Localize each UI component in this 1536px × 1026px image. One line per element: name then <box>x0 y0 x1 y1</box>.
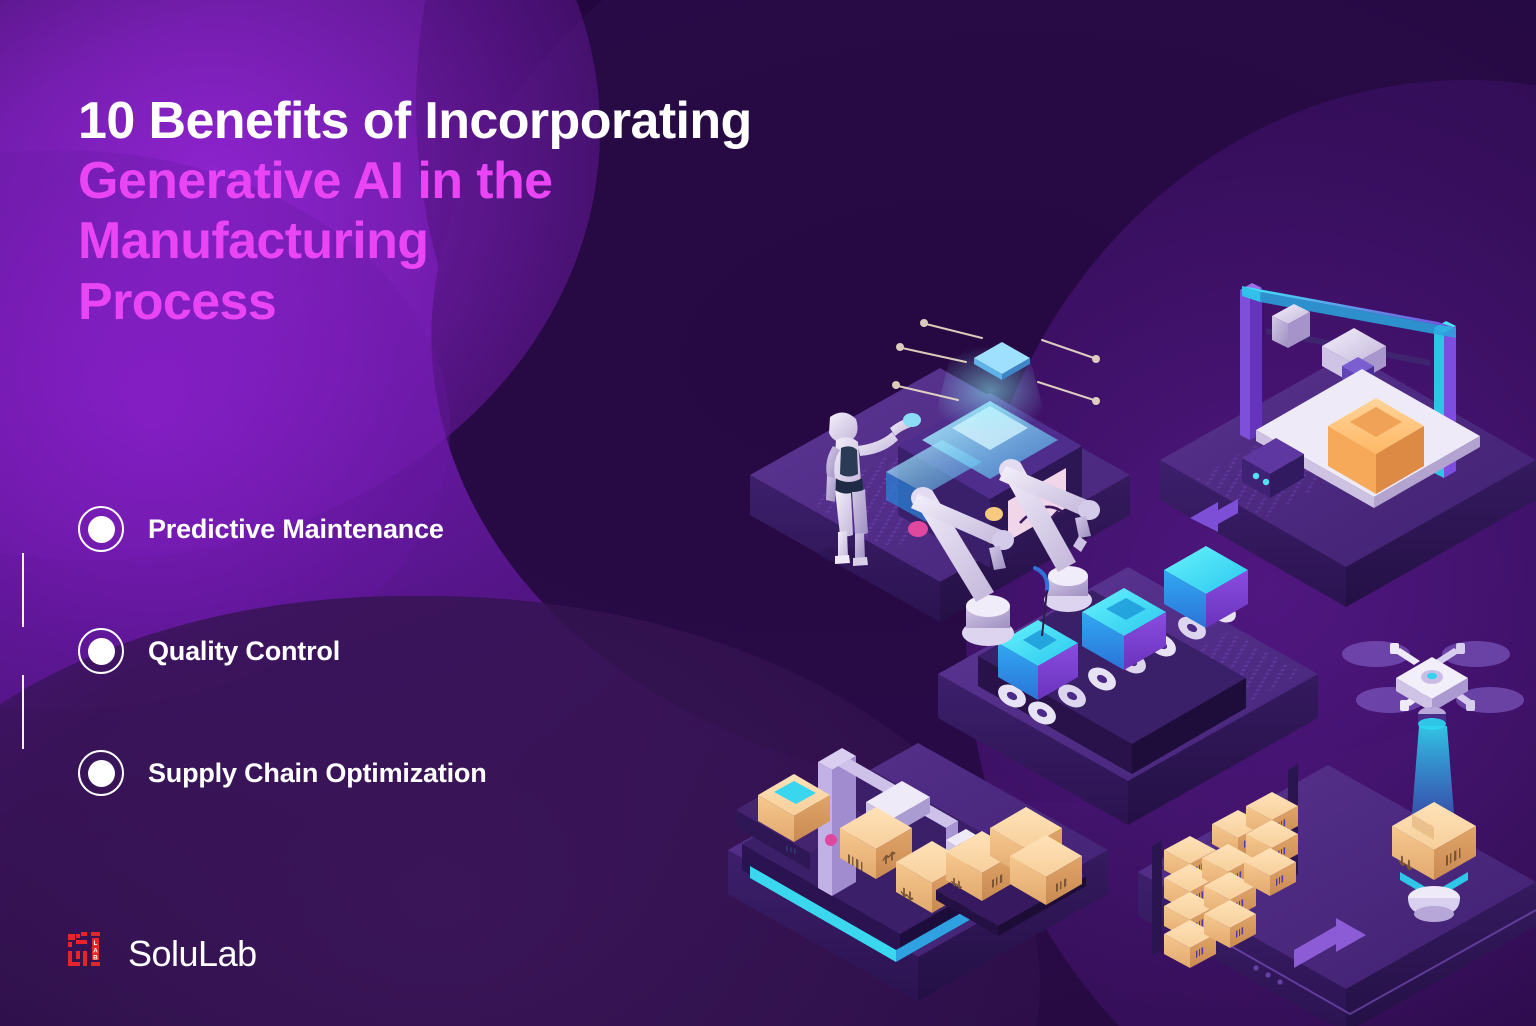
filled-circle-bullet-icon <box>78 506 124 552</box>
benefit-connector-2 <box>22 675 24 749</box>
filled-circle-bullet-icon <box>78 750 124 796</box>
infographic-canvas: 10 Benefits of Incorporating Generative … <box>0 0 1536 1026</box>
filled-circle-bullet-icon <box>78 628 124 674</box>
benefit-connector-1 <box>22 553 24 627</box>
background-vignette <box>0 0 1536 1026</box>
